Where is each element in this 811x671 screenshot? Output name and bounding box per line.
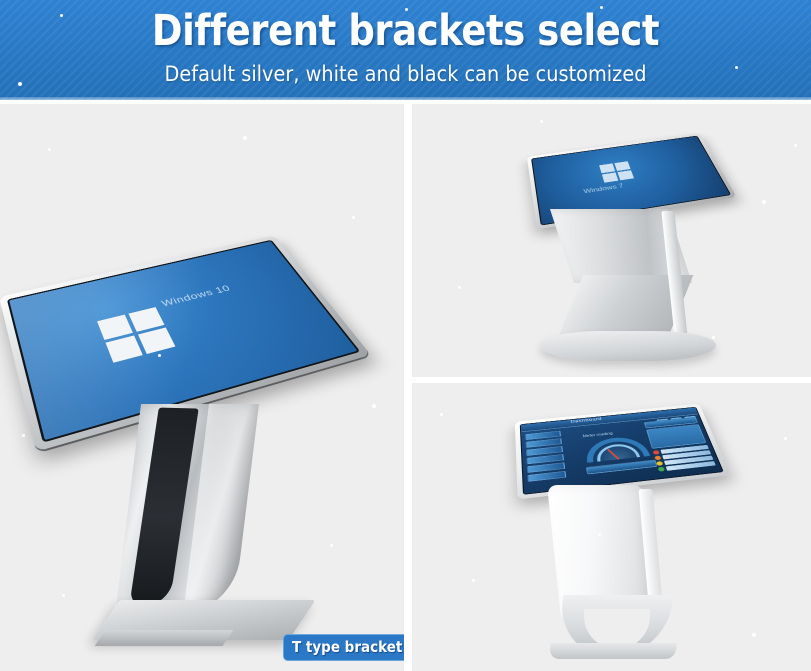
sparkle-dot — [600, 6, 603, 9]
sparkle-dot — [540, 120, 543, 123]
panel-s-type[interactable]: Dashboard — [412, 383, 811, 671]
dashboard-menu[interactable] — [525, 431, 566, 484]
sparkle-dot — [352, 216, 355, 219]
panel-t-type[interactable]: Windows 10 T type bracket — [0, 104, 404, 671]
stand-base — [549, 643, 677, 659]
page-title: Different brackets select — [57, 6, 754, 56]
status-dot-icon — [654, 456, 661, 461]
windows-logo-icon — [599, 161, 634, 182]
page-subtitle: Default silver, white and black can be c… — [32, 62, 778, 86]
kiosk-s-type: Dashboard — [412, 383, 811, 671]
sparkle-dot — [784, 437, 787, 440]
sparkle-dot — [440, 413, 443, 416]
kiosk-stand-k — [552, 209, 722, 367]
status-dot-icon — [658, 467, 665, 472]
sparkle-dot — [598, 533, 601, 536]
kiosk-t-type: Windows 10 — [0, 104, 404, 671]
sparkle-dot — [18, 82, 22, 86]
sparkle-dot — [712, 336, 715, 339]
sparkle-dot — [735, 66, 738, 69]
gauge-label: Meter reading — [582, 432, 613, 439]
sparkle-dot — [62, 594, 65, 597]
badge-t-type: T type bracket — [283, 634, 404, 661]
status-dot-icon — [656, 461, 663, 466]
kiosk-stand-t — [100, 404, 300, 654]
sparkle-dot — [752, 633, 756, 637]
kiosk-stand-s — [540, 483, 730, 663]
sparkle-dot — [158, 354, 161, 357]
sparkle-dot — [458, 286, 461, 289]
header-banner: Different brackets select Default silver… — [0, 0, 811, 100]
sparkle-dot — [243, 136, 247, 140]
product-feature-image: Different brackets select Default silver… — [0, 0, 811, 671]
os-label: Windows 10 — [160, 283, 232, 308]
sparkle-dot — [48, 148, 51, 151]
sparkle-dot — [330, 544, 333, 547]
stand-base — [540, 331, 716, 361]
sparkle-dot — [372, 404, 376, 408]
menu-item[interactable] — [527, 471, 566, 482]
sparkle-dot — [60, 14, 63, 17]
os-label: Windows 7 — [583, 183, 624, 195]
gauge-action-button[interactable] — [586, 460, 657, 475]
display-glass: Dashboard — [520, 407, 724, 495]
panel-k-type[interactable]: Windows 7 K type bracket — [412, 104, 811, 377]
sparkle-dot — [762, 200, 766, 204]
sparkle-dot — [405, 8, 408, 11]
status-dot-icon — [653, 450, 660, 455]
stand-base-edge — [95, 630, 234, 646]
windows-logo-icon — [97, 307, 175, 363]
sparkle-dot — [472, 579, 475, 582]
kiosk-k-type: Windows 7 — [412, 104, 811, 377]
sparkle-dot — [22, 434, 25, 437]
sparkle-dot — [794, 144, 797, 147]
